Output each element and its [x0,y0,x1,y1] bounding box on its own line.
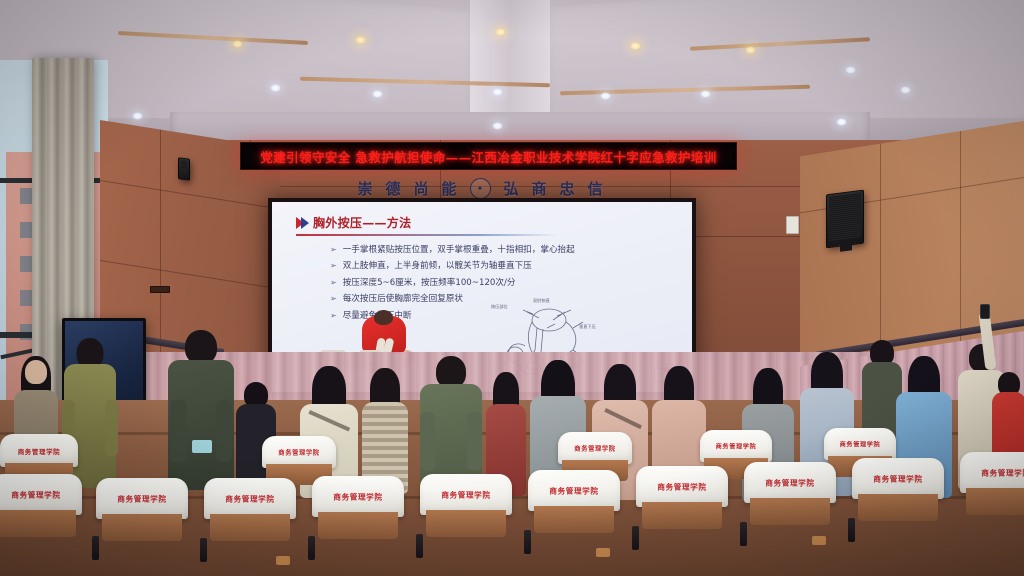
seat-cover-text: 商务管理学院 [204,494,296,505]
bullet-text: 双上肢伸直，上半身前倾，以髋关节为轴垂直下压 [343,260,532,272]
wall-speaker-right [826,190,864,249]
seat-cover-text: 商务管理学院 [824,440,896,449]
motto-char-2: 德 [385,178,400,199]
seat-cover-text: 商务管理学院 [558,444,632,453]
arm [105,400,118,456]
seat-armrest [524,530,531,554]
ceiling-downlight [900,86,911,94]
seat-armrest [740,522,747,546]
speaker-mount [840,242,852,251]
seat-armrest [632,526,639,550]
seat-cover-text: 商务管理学院 [0,490,82,501]
seat-row2[interactable]: 商务管理学院 [204,478,296,540]
seat-cover-text: 商务管理学院 [700,442,772,451]
seat-cover: 商务管理学院 [852,458,944,499]
wall-control-box [786,216,799,234]
seat-cover-text: 商务管理学院 [744,478,836,489]
seat-cover-text: 商务管理学院 [0,446,78,456]
seat-backrest [966,488,1024,515]
ceiling-downlight [492,88,503,96]
seat-cover-text: 商务管理学院 [96,494,188,505]
led-banner: 党建引领守安全 急救护航担使命——江西冶金职业技术学院红十字应急救护培训 [240,142,737,170]
person-dark-green-coat [168,330,234,490]
arm [216,400,232,462]
slide-bullet-item: ➢ 一手掌根紧贴按压位置，双手掌根重叠，十指相扣，掌心抬起 [330,244,660,256]
chevron-blue-icon [301,217,309,229]
seat-row2[interactable]: 商务管理学院 [852,458,944,520]
seat-backrest [0,510,76,537]
seat-backrest [858,494,939,521]
ceiling-downlight [355,36,366,44]
seat-cover-text: 商务管理学院 [262,448,336,457]
seat-folding-desk [812,536,826,545]
diagram-label: 按压部位 [491,304,508,310]
seat-cover-text: 商务管理学院 [636,482,728,493]
head [185,330,217,364]
held-paper [192,440,212,453]
motto-char-4: 能 [441,178,456,199]
seat-backrest [426,510,507,537]
seat-backrest [534,506,615,533]
bullet-text: 每次按压后使胸廓完全回复原状 [343,293,463,305]
speaker-mesh [181,161,187,174]
seat-row2[interactable]: 商务管理学院 [528,470,620,532]
slide-title: 胸外按压——方法 [313,214,411,231]
ceiling-downlight [492,122,503,130]
seat-folding-desk [596,548,610,557]
seat-armrest [200,538,207,562]
bullet-marker-icon: ➢ [330,293,337,305]
speaker-mesh [829,193,861,241]
seat-row2[interactable]: 商务管理学院 [0,474,82,536]
seat-row2[interactable]: 商务管理学院 [636,466,728,528]
chevron-double-icon [296,217,306,229]
motto-char-1: 崇 [357,178,372,199]
bullet-text: 一手掌根紧贴按压位置，双手掌根重叠，十指相扣，掌心抬起 [343,244,575,256]
seat-row2[interactable]: 商务管理学院 [744,462,836,524]
lecture-hall-photo: 党建引领守安全 急救护航担使命——江西冶金职业技术学院红十字应急救护培训 崇 德… [0,0,1024,576]
seat-cover: 商务管理学院 [700,430,772,462]
seat-cover: 商务管理学院 [824,428,896,460]
seat-cover-text: 商务管理学院 [528,486,620,497]
seat-armrest [848,518,855,542]
seat-armrest [92,536,99,560]
diagram-label: 双肘伸直 [533,298,550,304]
ceiling-downlight [630,42,641,50]
seat-row2[interactable]: 商务管理学院 [312,476,404,538]
motto-char-8: 信 [588,178,603,199]
seat-cover: 商务管理学院 [636,466,728,507]
ceiling-downlight [700,90,711,98]
seat-backrest [102,514,183,541]
bullet-marker-icon: ➢ [330,277,337,289]
ceiling-downlight [600,92,611,100]
seat-cover: 商务管理学院 [420,474,512,515]
wall-panel-seam [100,180,280,210]
seat-cover: 商务管理学院 [204,478,296,519]
arm [420,412,435,470]
seat-cover: 商务管理学院 [744,462,836,503]
seat-backrest [210,514,291,541]
seat-cover: 商务管理学院 [262,436,336,468]
seat-backrest [318,512,399,539]
led-banner-text: 党建引领守安全 急救护航担使命——江西冶金职业技术学院红十字应急救护培训 [260,147,716,166]
seat-row2[interactable]: 商务管理学院 [420,474,512,536]
cpr-rescuer-head [374,310,393,325]
motto-char-5: 弘 [504,178,519,199]
seat-cover: 商务管理学院 [558,432,632,464]
seat-folding-desk [276,556,290,565]
slide-title-underline [296,234,558,236]
ceiling-downlight [836,118,847,126]
seat-cover-text: 商务管理学院 [852,474,944,485]
ceiling-downlight [270,84,281,92]
person-striped-shirt [362,368,408,492]
arm [170,400,186,462]
seat-cover-text: 商务管理学院 [312,492,404,503]
ceiling-downlight [495,28,506,36]
seat-cover: 商务管理学院 [528,470,620,511]
slide-header: 胸外按压——方法 [296,214,411,231]
slide-bullet-item: ➢ 按压深度5~6厘米，按压频率100~120次/分 [330,277,660,289]
wall-motto: 崇 德 尚 能 ✦ 弘 商 忠 信 [300,176,660,200]
phone-icon [980,304,990,319]
ceiling-downlight [845,66,856,74]
seat-backrest [642,502,723,529]
seat-cover: 商务管理学院 [0,474,82,515]
slide-bullet-item: ➢ 双上肢伸直，上半身前倾，以髋关节为轴垂直下压 [330,260,660,272]
motto-char-3: 尚 [413,178,428,199]
wall-speaker-left [178,157,190,180]
ceiling-downlight [372,90,383,98]
seat-cover-text: 商务管理学院 [960,468,1024,479]
seat-cover: 商务管理学院 [312,476,404,517]
school-emblem-icon: ✦ [470,178,491,199]
ceiling-downlight [745,46,756,54]
ceiling-downlight [232,40,243,48]
head [25,360,47,384]
arm [467,412,482,470]
bullet-text: 按压深度5~6厘米，按压频率100~120次/分 [343,277,516,289]
bullet-marker-icon: ➢ [330,244,337,256]
seat-row2[interactable]: 商务管理学院 [96,478,188,540]
seat-cover: 商务管理学院 [960,452,1024,493]
seat-cover-text: 商务管理学院 [420,490,512,501]
wall-panel-seam [100,260,280,290]
seat-row2[interactable]: 商务管理学院 [960,452,1024,514]
seat-backrest [750,498,831,525]
seat-armrest [416,534,423,558]
motto-char-6: 商 [532,178,547,199]
seat-armrest [308,536,315,560]
ceiling-downlight [132,112,143,120]
motto-char-7: 忠 [560,178,575,199]
bullet-marker-icon: ➢ [330,260,337,272]
diagram-label: 垂直下压 [579,324,596,330]
seat-cover: 商务管理学院 [96,478,188,519]
wall-trim-block [150,286,170,293]
